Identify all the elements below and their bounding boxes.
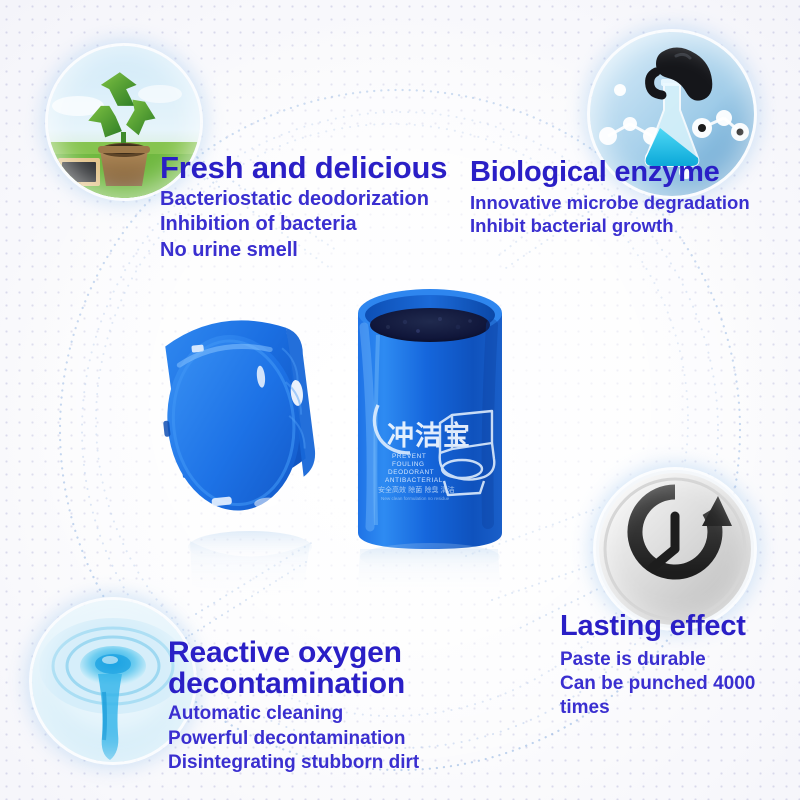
feature-block-fresh: Fresh and delicious Bacteriostatic deodo… bbox=[160, 152, 447, 263]
feature-lines: Automatic cleaning Powerful decontaminat… bbox=[168, 702, 419, 775]
feature-heading: Biological enzyme bbox=[470, 158, 750, 188]
jar-body: 冲洁宝 PREVENT FOULING DEODORANT ANTIBACTER… bbox=[358, 289, 502, 549]
feature-lines: Innovative microbe degradation Inhibit b… bbox=[470, 191, 750, 238]
feature-lines: Paste is durable Can be punched 4000 tim… bbox=[560, 648, 800, 721]
feature-heading: Reactive oxygen decontamination bbox=[168, 638, 419, 699]
feature-block-enzyme: Biological enzyme Innovative microbe deg… bbox=[470, 158, 750, 238]
infographic-canvas: .arc{fill:none;stroke:#7fa8dd;stroke-wid… bbox=[0, 0, 800, 800]
svg-text:PREVENT: PREVENT bbox=[392, 453, 426, 460]
svg-text:安全高效 除菌 除臭 清洁: 安全高效 除菌 除臭 清洁 bbox=[378, 485, 455, 494]
svg-text:FOULING: FOULING bbox=[392, 461, 425, 468]
svg-text:DEODORANT: DEODORANT bbox=[388, 469, 434, 476]
feature-lines: Bacteriostatic deodorization Inhibition … bbox=[160, 187, 447, 264]
svg-text:ANTIBACTERIAL: ANTIBACTERIAL bbox=[385, 477, 443, 484]
feature-block-oxygen: Reactive oxygen decontamination Automati… bbox=[168, 638, 419, 775]
product-image: 冲洁宝 PREVENT FOULING DEODORANT ANTIBACTER… bbox=[140, 265, 610, 625]
svg-text:New clean formulation no resid: New clean formulation no residue bbox=[381, 496, 450, 501]
feature-heading: Lasting effect bbox=[560, 612, 800, 642]
clock-arrow-icon bbox=[596, 470, 754, 628]
feature-block-lasting: Lasting effect Paste is durable Can be p… bbox=[560, 612, 800, 721]
jar-lid bbox=[153, 314, 320, 518]
feature-heading: Fresh and delicious bbox=[160, 152, 447, 184]
